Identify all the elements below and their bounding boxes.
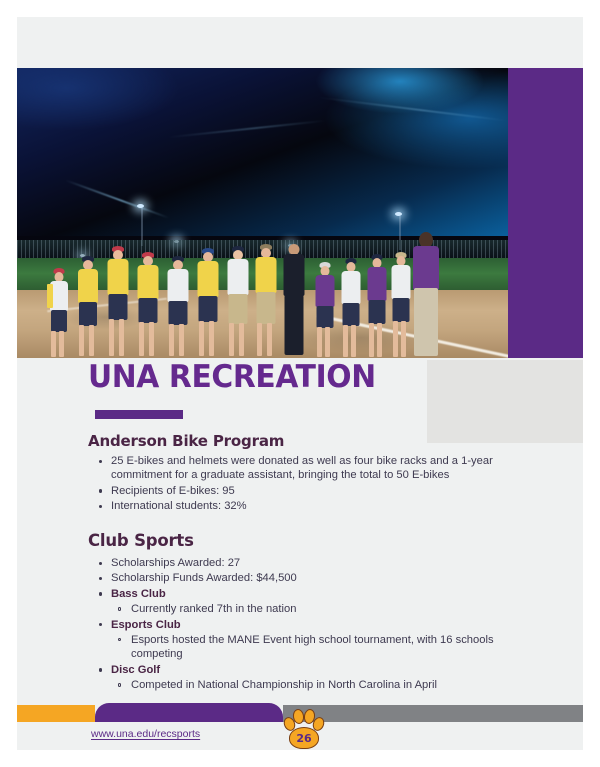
list-item: Recipients of E-bikes: 95 bbox=[92, 484, 512, 498]
player bbox=[225, 246, 251, 358]
title-underline-rule bbox=[95, 410, 183, 419]
sublist-item: Esports hosted the MANE Event high schoo… bbox=[111, 633, 512, 662]
player bbox=[253, 244, 279, 358]
player bbox=[47, 262, 71, 358]
night-sky bbox=[17, 68, 508, 236]
sublist: Competed in National Championship in Nor… bbox=[111, 678, 512, 692]
player bbox=[135, 250, 161, 358]
footer-gray-bar bbox=[283, 705, 583, 722]
club-sports-list: Scholarships Awarded: 27 Scholarship Fun… bbox=[92, 556, 512, 694]
list-item-label: Scholarship Funds Awarded: $44,500 bbox=[111, 572, 297, 584]
list-item-label: Bass Club bbox=[111, 588, 166, 600]
bike-program-list: 25 E-bikes and helmets were donated as w… bbox=[92, 454, 512, 515]
player-foreground bbox=[411, 232, 441, 358]
list-item-label: Disc Golf bbox=[111, 664, 160, 676]
list-item-label: International students: 32% bbox=[111, 500, 247, 512]
list-item: Esports Club Esports hosted the MANE Eve… bbox=[92, 618, 512, 662]
purple-accent-block bbox=[508, 68, 583, 358]
sublist-item: Currently ranked 7th in the nation bbox=[111, 602, 512, 616]
list-item-label: Recipients of E-bikes: 95 bbox=[111, 485, 235, 497]
footer-purple-tab bbox=[95, 703, 283, 722]
page-number: 26 bbox=[290, 728, 318, 748]
sublist-item: Competed in National Championship in Nor… bbox=[111, 678, 512, 692]
field-light bbox=[137, 204, 144, 208]
sublist: Currently ranked 7th in the nation bbox=[111, 602, 512, 616]
list-item: 25 E-bikes and helmets were donated as w… bbox=[92, 454, 512, 483]
field-light bbox=[395, 212, 402, 216]
page: UNA RECREATION Anderson Bike Program 25 … bbox=[0, 0, 600, 767]
paw-print-icon: 26 bbox=[283, 708, 323, 750]
list-item-label: Scholarships Awarded: 27 bbox=[111, 557, 240, 569]
gray-accent-block bbox=[427, 360, 583, 443]
paw-pad: 26 bbox=[289, 727, 319, 749]
player bbox=[389, 252, 413, 358]
footer-orange-bar bbox=[17, 705, 95, 722]
list-item: Scholarship Funds Awarded: $44,500 bbox=[92, 571, 512, 585]
player bbox=[313, 260, 337, 358]
player bbox=[195, 248, 221, 358]
player bbox=[365, 254, 389, 358]
list-item: Scholarships Awarded: 27 bbox=[92, 556, 512, 570]
player bbox=[339, 256, 363, 358]
player bbox=[105, 246, 131, 358]
list-item-label: Esports Club bbox=[111, 619, 181, 631]
footer-website-link[interactable]: www.una.edu/recsports bbox=[91, 728, 200, 740]
hero-photo bbox=[17, 68, 508, 358]
umpire bbox=[282, 242, 306, 358]
player bbox=[165, 252, 191, 358]
list-item-label: 25 E-bikes and helmets were donated as w… bbox=[111, 455, 493, 481]
sublist: Esports hosted the MANE Event high schoo… bbox=[111, 633, 512, 662]
player bbox=[75, 254, 101, 358]
page-title: UNA RECREATION bbox=[88, 362, 376, 393]
list-item: Disc Golf Competed in National Champions… bbox=[92, 663, 512, 693]
section-heading-anderson-bike-program: Anderson Bike Program bbox=[88, 432, 284, 450]
list-item: Bass Club Currently ranked 7th in the na… bbox=[92, 587, 512, 617]
list-item: International students: 32% bbox=[92, 499, 512, 513]
section-heading-club-sports: Club Sports bbox=[88, 531, 194, 551]
